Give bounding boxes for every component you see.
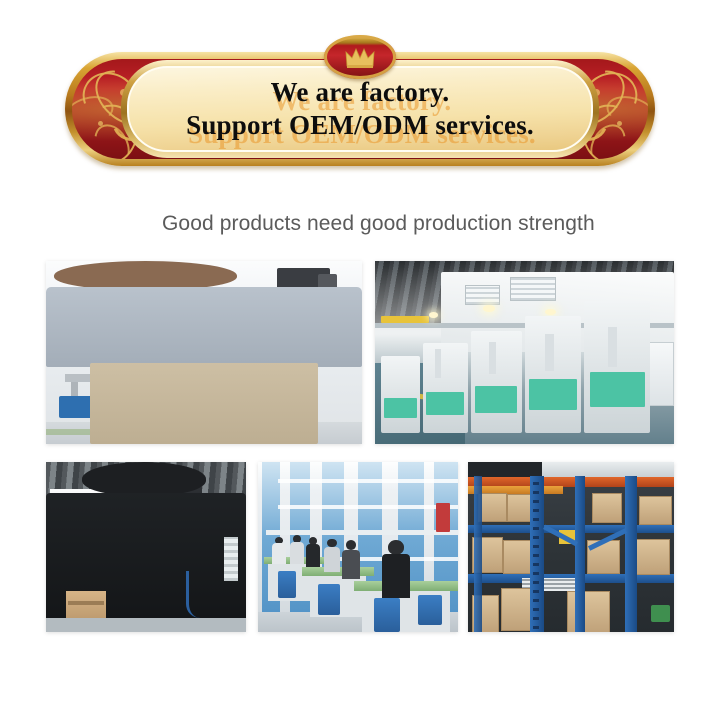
section-subtitle: Good products need good production stren…: [162, 212, 595, 236]
headline-line-1: We are factory.: [271, 78, 450, 107]
photo-cnc-machining-center: [46, 462, 246, 632]
gallery-row-bottom: [46, 462, 674, 632]
headline-banner: We are factory. Support OEM/ODM services…: [65, 52, 655, 166]
photo-smt-production-line: [46, 261, 362, 444]
headline-line-2: Support OEM/ODM services.: [186, 111, 534, 140]
photo-injection-molding-workshop: [375, 261, 674, 444]
gallery-row-top: [46, 261, 674, 444]
photo-warehouse-racking: [468, 462, 674, 632]
photo-assembly-line: [258, 462, 458, 632]
crown-icon: [324, 35, 396, 79]
factory-promo-page: We are factory. Support OEM/ODM services…: [0, 0, 720, 720]
